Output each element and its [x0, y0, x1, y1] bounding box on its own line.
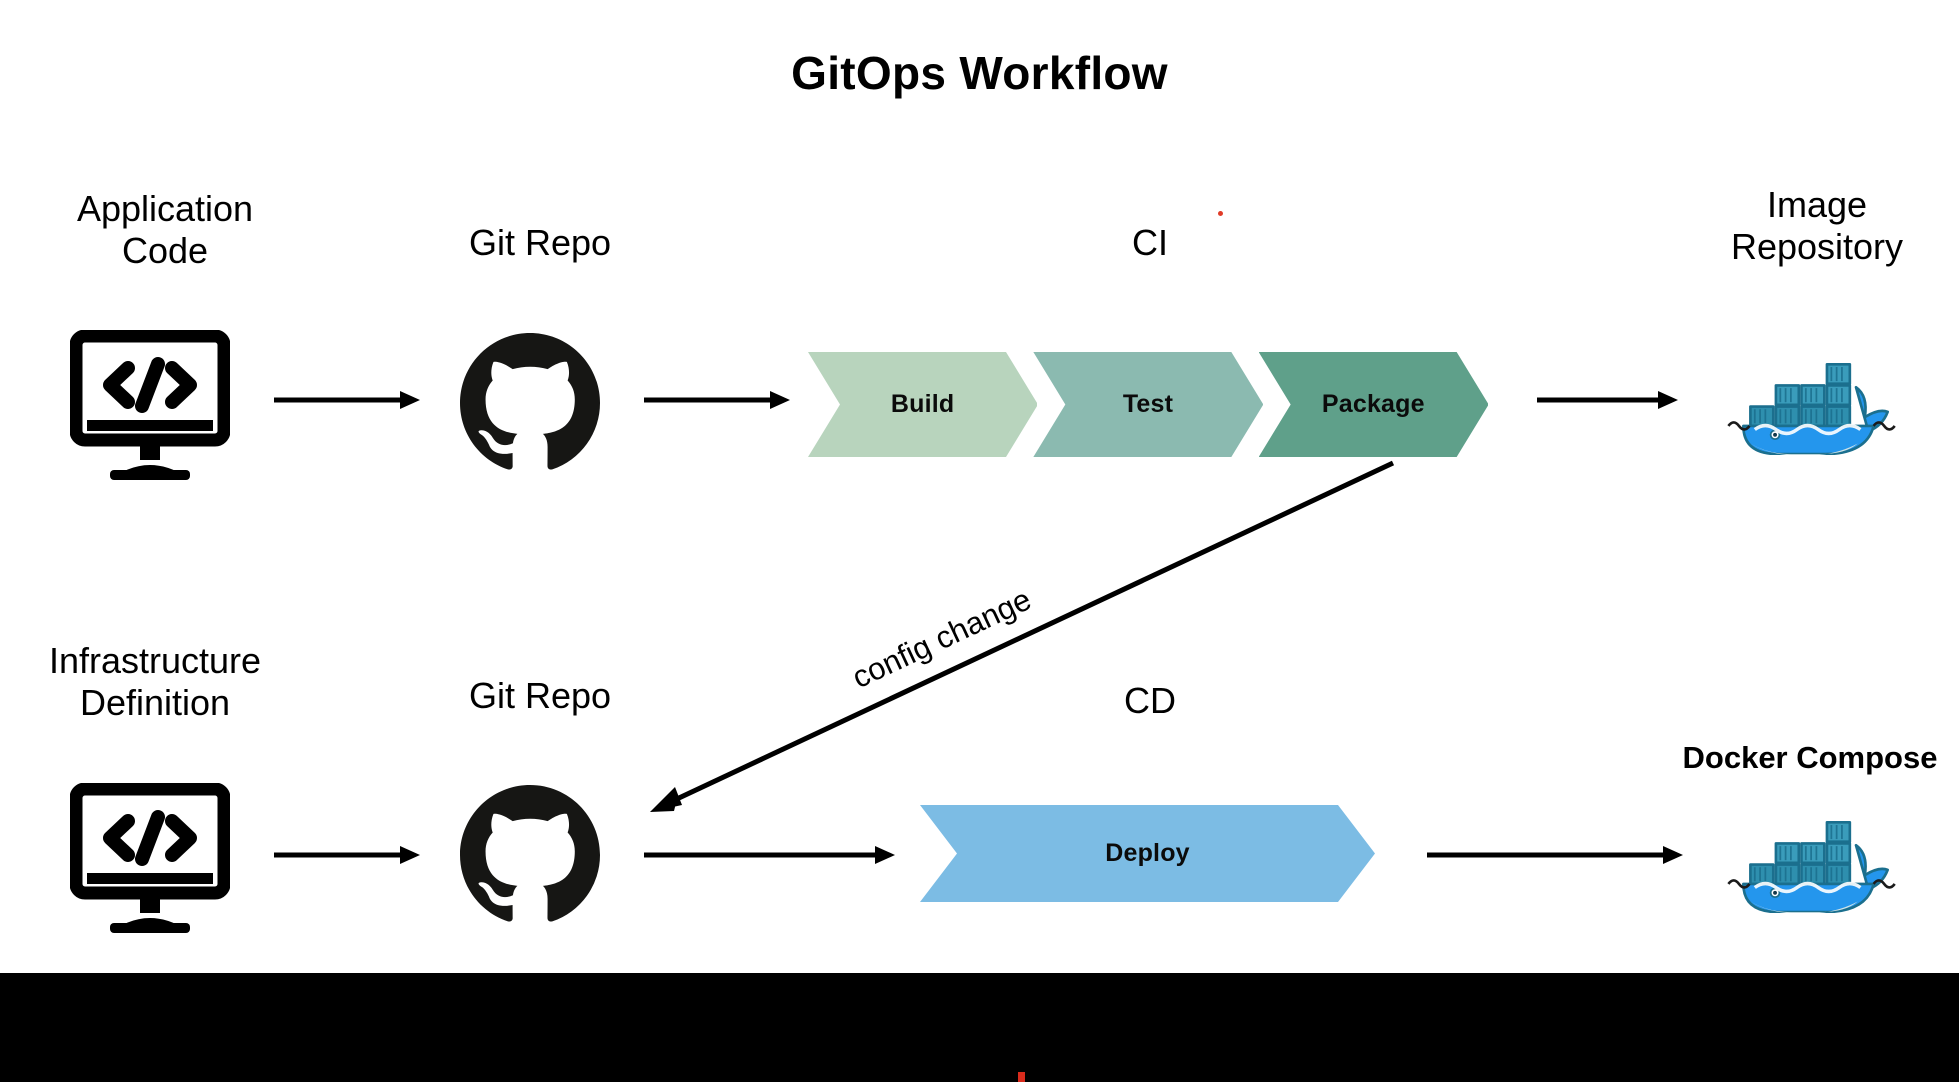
arrow-config-change	[630, 455, 1410, 820]
arrow-infra-to-gitrepo	[272, 840, 422, 875]
chevron-build-label: Build	[891, 390, 955, 419]
label-image-repository: Image Repository	[1675, 184, 1959, 269]
arrow-ci-to-imagerepo	[1535, 385, 1680, 420]
arrow-gitrepo-to-cd	[642, 840, 897, 875]
red-speck-artifact	[1218, 211, 1223, 216]
label-git-repo-bottom: Git Repo	[400, 675, 680, 717]
label-application-code: Application Code	[20, 188, 310, 273]
chevron-test-label: Test	[1123, 390, 1173, 419]
github-octocat-icon-bottom	[460, 785, 600, 930]
github-octocat-icon-top	[460, 333, 600, 478]
ci-pipeline-chevrons: Build Test Package	[808, 352, 1488, 457]
page-title: GitOps Workflow	[0, 46, 1959, 100]
chevron-build[interactable]: Build	[808, 352, 1037, 457]
chevron-package-label: Package	[1322, 390, 1425, 419]
chevron-deploy-label: Deploy	[1105, 839, 1190, 868]
label-infrastructure-definition: Infrastructure Definition	[5, 640, 305, 725]
diagram-canvas: GitOps Workflow Application Code Git Rep…	[0, 0, 1959, 1082]
chevron-package[interactable]: Package	[1259, 352, 1488, 457]
arrow-appcode-to-gitrepo	[272, 385, 422, 420]
code-monitor-icon-top	[70, 330, 230, 485]
arrow-gitrepo-to-ci	[642, 385, 792, 420]
chevron-test[interactable]: Test	[1033, 352, 1262, 457]
docker-whale-icon-top	[1722, 345, 1902, 460]
code-monitor-icon-bottom	[70, 783, 230, 938]
cd-pipeline-chevrons: Deploy	[920, 805, 1375, 902]
arrow-cd-to-dockercompose	[1425, 840, 1685, 875]
chevron-deploy[interactable]: Deploy	[920, 805, 1375, 902]
label-cd: CD	[1000, 680, 1300, 722]
bottom-black-bar	[0, 973, 1959, 1082]
docker-whale-icon-bottom	[1722, 803, 1902, 918]
label-git-repo-top: Git Repo	[400, 222, 680, 264]
bottom-bar-red-marker	[1018, 1072, 1025, 1082]
label-ci: CI	[1000, 222, 1300, 264]
label-docker-compose: Docker Compose	[1660, 740, 1959, 777]
